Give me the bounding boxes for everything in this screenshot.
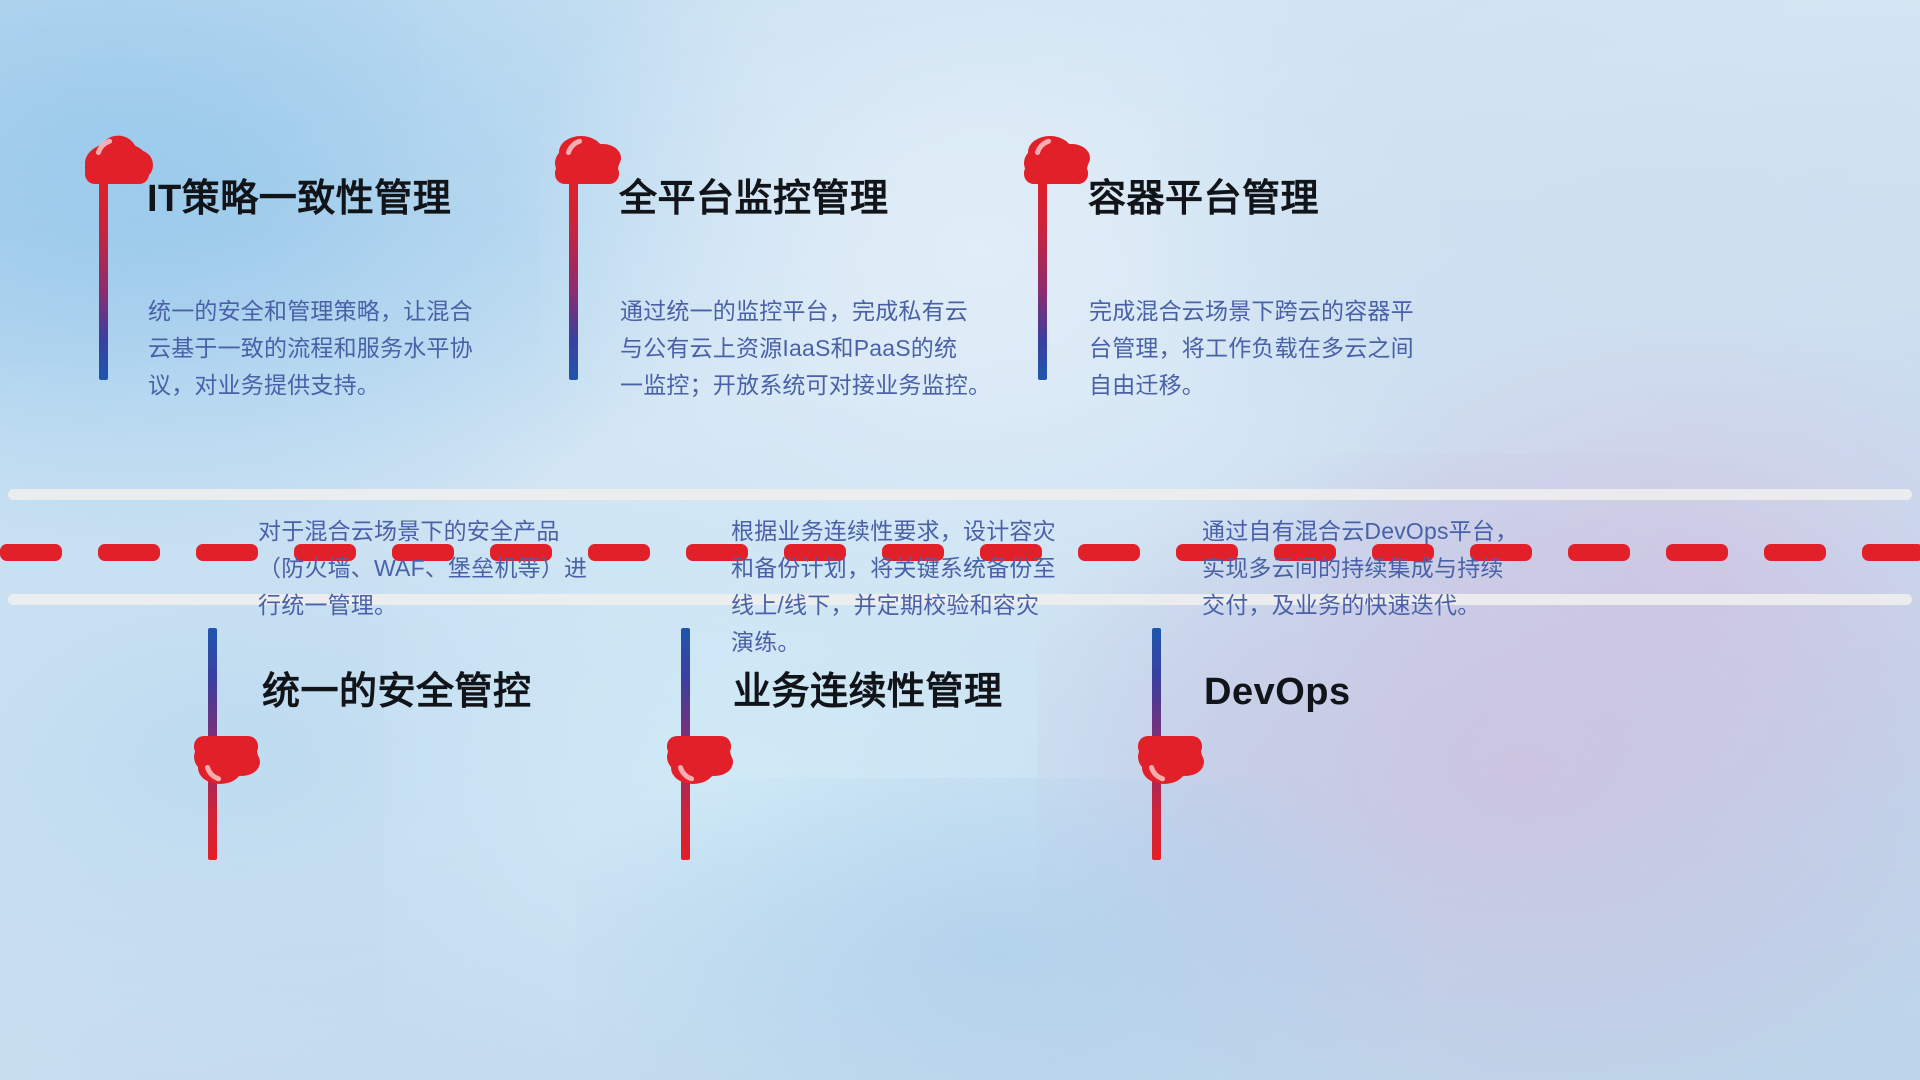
divider-dash	[0, 544, 62, 561]
item-title: DevOps	[1204, 673, 1351, 711]
item-title: 全平台监控管理	[619, 180, 889, 218]
item-description: 根据业务连续性要求，设计容灾 和备份计划，将关键系统备份至 线上/线下，并定期校…	[731, 513, 1091, 661]
cloud-icon	[663, 734, 735, 790]
item-description: 对于混合云场景下的安全产品 （防火墙、WAF、堡垒机等）进 行统一管理。	[258, 513, 618, 624]
cloud-icon	[1134, 734, 1206, 790]
cloud-icon	[551, 130, 623, 186]
connector-bar	[1038, 178, 1047, 380]
connector-bar	[99, 178, 108, 380]
item-description: 通过自有混合云DevOps平台， 实现多云间的持续集成与持续 交付，及业务的快速…	[1202, 513, 1562, 624]
item-title: 统一的安全管控	[262, 673, 532, 711]
divider-dash	[1666, 544, 1728, 561]
divider-dash	[1862, 544, 1920, 561]
cloud-icon	[81, 130, 153, 186]
divider-edge-top	[8, 489, 1912, 500]
connector-bar	[569, 178, 578, 380]
divider-dash	[98, 544, 160, 561]
divider-dash	[1568, 544, 1630, 561]
item-title: 容器平台管理	[1088, 180, 1319, 218]
item-description: 通过统一的监控平台，完成私有云 与公有云上资源IaaS和PaaS的统 一监控；开…	[620, 293, 1010, 404]
divider-dash	[1764, 544, 1826, 561]
item-description: 完成混合云场景下跨云的容器平 台管理，将工作负载在多云之间 自由迁移。	[1089, 293, 1469, 404]
cloud-icon	[1020, 130, 1092, 186]
infographic-stage: IT策略一致性管理 统一的安全和管理策略，让混合 云基于一致的流程和服务水平协 …	[0, 0, 1920, 1080]
divider-dash	[196, 544, 258, 561]
cloud-icon	[190, 734, 262, 790]
item-title: 业务连续性管理	[733, 673, 1003, 711]
item-description: 统一的安全和管理策略，让混合 云基于一致的流程和服务水平协 议，对业务提供支持。	[148, 293, 508, 404]
item-title: IT策略一致性管理	[147, 180, 451, 218]
